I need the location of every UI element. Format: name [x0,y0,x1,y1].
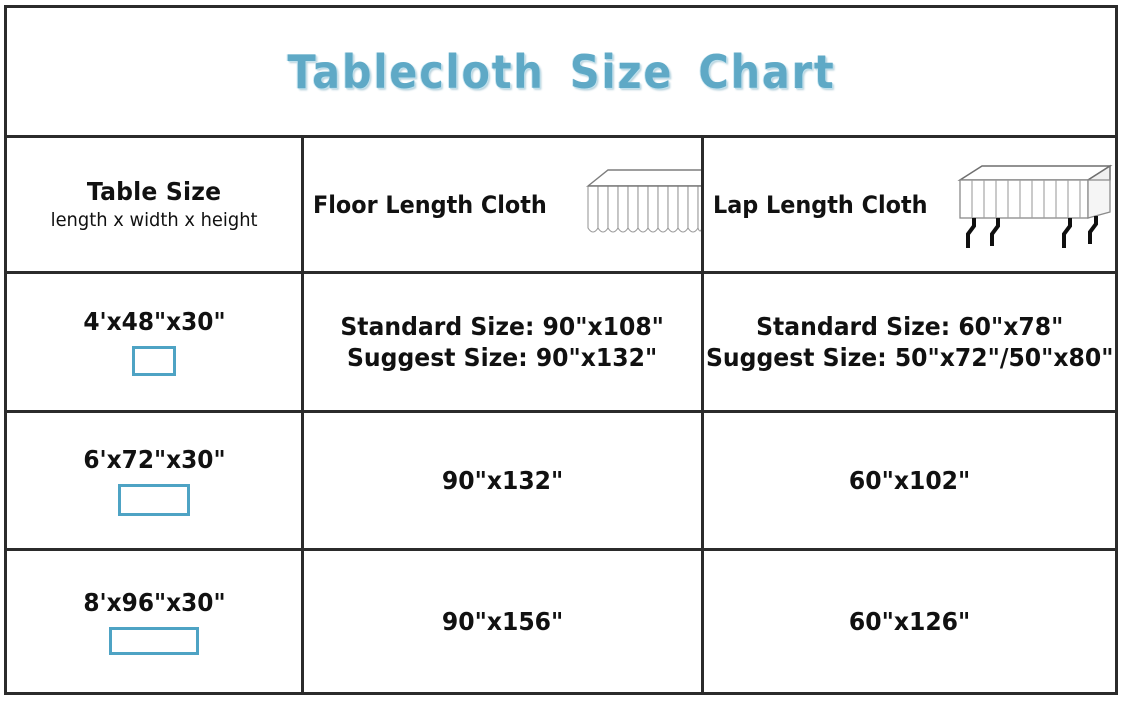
table-row: 8'x96"x30" 90"x156" 60"x126" [7,551,1115,692]
lap-size-value: 60"x126" [849,606,970,637]
cell-lap-length: 60"x126" [704,551,1115,692]
page-title: Tablecloth Size Chart [287,45,835,99]
header-cell-table-size: Table Size length x width x height [7,138,304,271]
table-header-row: Table Size length x width x height Floor… [7,138,1115,274]
cell-table-size: 6'x72"x30" [7,413,304,548]
cell-floor-length: 90"x132" [304,413,704,548]
floor-standard-size: Standard Size: 90"x108" [341,311,665,342]
table-size-heading: Table Size length x width x height [51,178,258,232]
lap-length-sizes: Standard Size: 60"x78" Suggest Size: 50"… [706,311,1114,374]
table-shape-swatch [109,627,199,655]
title-row: Tablecloth Size Chart [7,8,1115,138]
lap-length-sizes: 60"x102" [849,465,970,496]
table-row: 6'x72"x30" 90"x132" 60"x102" [7,413,1115,551]
table-size-value: 8'x96"x30" [83,588,225,617]
lap-length-sizes: 60"x126" [849,606,970,637]
floor-suggest-size: Suggest Size: 90"x132" [341,342,665,373]
table-size-value: 6'x72"x30" [83,445,225,474]
floor-length-heading: Floor Length Cloth [307,162,698,248]
floor-size-value: 90"x156" [442,606,563,637]
floor-size-value: 90"x132" [442,465,563,496]
floor-length-sizes: 90"x156" [442,606,563,637]
cell-floor-length: Standard Size: 90"x108" Suggest Size: 90… [304,274,704,409]
tablecloth-size-chart: Tablecloth Size Chart Table Size length … [4,5,1118,695]
lap-size-value: 60"x102" [849,465,970,496]
header-cell-floor-length: Floor Length Cloth [304,138,704,271]
table-size-group: 4'x48"x30" [78,307,231,376]
floor-length-sizes: 90"x132" [442,465,563,496]
table-size-group: 6'x72"x30" [78,445,231,516]
cell-lap-length: 60"x102" [704,413,1115,548]
header-cell-lap-length: Lap Length Cloth [704,138,1115,271]
draped-table-lap-length-icon [946,158,1115,252]
table-size-heading-main: Table Size [51,178,258,207]
cell-table-size: 8'x96"x30" [7,551,304,692]
table-shape-swatch [132,346,176,376]
draped-table-floor-length-icon [570,162,704,248]
cell-lap-length: Standard Size: 60"x78" Suggest Size: 50"… [704,274,1115,409]
lap-suggest-size: Suggest Size: 50"x72"/50"x80" [706,342,1114,373]
cell-table-size: 4'x48"x30" [7,274,304,409]
table-row: 4'x48"x30" Standard Size: 90"x108" Sugge… [7,274,1115,412]
table-size-heading-sub: length x width x height [51,210,258,232]
floor-length-label: Floor Length Cloth [313,191,547,219]
lap-length-heading: Lap Length Cloth [707,158,1112,252]
size-table: Table Size length x width x height Floor… [7,138,1115,692]
lap-standard-size: Standard Size: 60"x78" [706,311,1114,342]
cell-floor-length: 90"x156" [304,551,704,692]
table-size-value: 4'x48"x30" [83,307,225,336]
table-size-group: 8'x96"x30" [78,588,231,655]
table-shape-swatch [118,484,190,516]
floor-length-sizes: Standard Size: 90"x108" Suggest Size: 90… [341,311,665,374]
lap-length-label: Lap Length Cloth [713,191,928,219]
